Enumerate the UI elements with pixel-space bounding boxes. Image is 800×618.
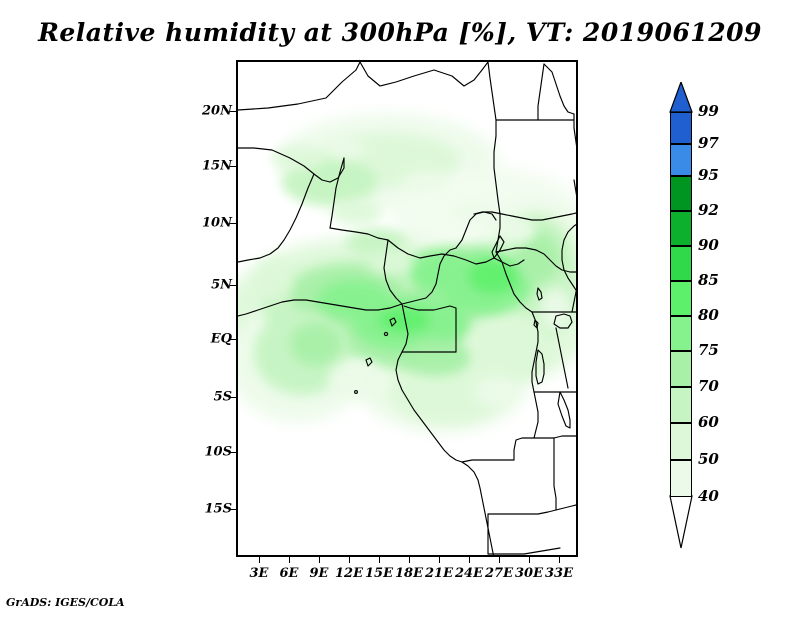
y-axis-label: 10N [202,216,232,231]
colorbar-band [670,176,692,211]
colorbar-tick-label: 90 [698,236,719,254]
map-plot-area: 3E 6E 9E 12E 15E 18E 21E 24E 27E 30E 33E… [236,60,578,557]
x-axis-label: 18E [395,566,423,581]
colorbar-tick-label: 80 [698,306,719,324]
x-tick [559,557,560,563]
x-axis-label: 12E [335,566,363,581]
x-tick [289,557,290,563]
y-axis-label: 15N [202,159,232,174]
x-axis-label: 24E [455,566,483,581]
colorbar-tick-label: 40 [698,487,719,505]
colorbar-band [670,387,692,423]
colorbar-tick-label: 97 [698,134,719,152]
colorbar-band [670,144,692,176]
page-title: Relative humidity at 300hPa [%], VT: 201… [0,18,800,47]
x-tick [379,557,380,563]
y-axis-label: 15S [205,502,232,517]
colorbar-band [670,112,692,144]
y-axis-label: EQ [211,332,232,347]
colorbar-tick-label: 85 [698,271,719,289]
y-axis-label: 5N [211,278,232,293]
x-axis-label: 6E [280,566,299,581]
colorbar-tick-label: 70 [698,377,719,395]
y-axis-label: 20N [202,104,232,119]
x-tick [259,557,260,563]
x-tick [319,557,320,563]
colorbar-tick-label: 60 [698,413,719,431]
map-canvas [238,62,578,557]
map-frame [236,60,578,557]
colorbar-band [670,423,692,460]
x-axis-label: 3E [250,566,269,581]
colorbar-band [670,211,692,246]
colorbar-tick-label: 99 [698,102,719,120]
colorbar-tick-label: 75 [698,341,719,359]
colorbar-tick-label: 95 [698,166,719,184]
y-axis-label: 5S [214,390,232,405]
colorbar-band [670,460,692,497]
x-axis-label: 30E [515,566,543,581]
colorbar-band [670,281,692,316]
grads-plot-page: Relative humidity at 300hPa [%], VT: 201… [0,0,800,618]
x-axis-label: 21E [425,566,453,581]
x-tick [529,557,530,563]
x-tick [349,557,350,563]
x-tick [469,557,470,563]
x-axis-label: 9E [310,566,329,581]
colorbar-band [670,246,692,281]
colorbar-band [670,351,692,387]
footer-credit: GrADS: IGES/COLA [6,596,125,609]
y-axis-label: 10S [205,445,232,460]
colorbar-band [670,316,692,351]
colorbar-tick-label: 50 [698,450,719,468]
x-tick [439,557,440,563]
x-axis-label: 15E [365,566,393,581]
colorbar-tick-label: 92 [698,201,719,219]
x-axis-label: 33E [545,566,573,581]
colorbar: 99 97 95 92 90 85 80 75 70 60 50 40 [666,82,786,552]
x-tick [499,557,500,563]
x-axis-label: 27E [485,566,513,581]
x-tick [409,557,410,563]
